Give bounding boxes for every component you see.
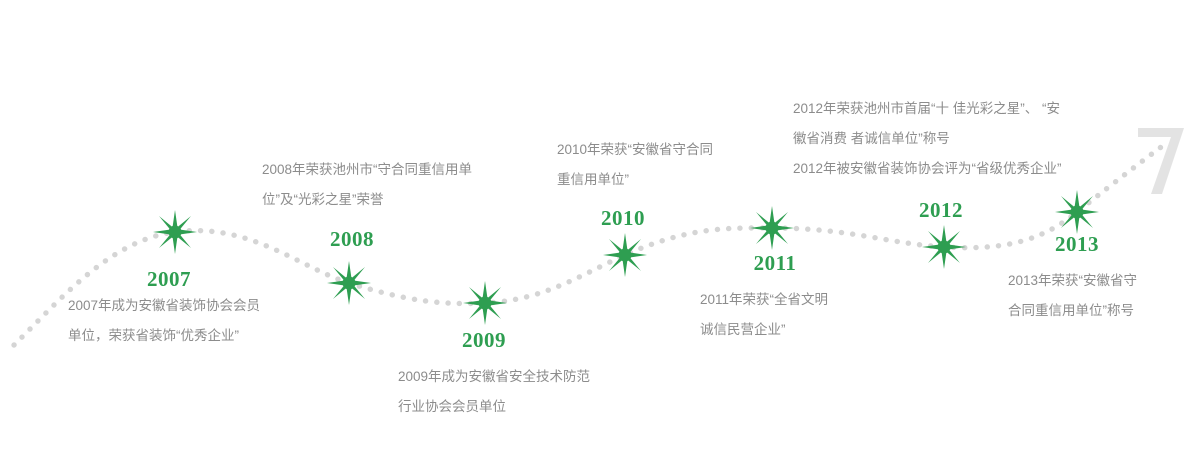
arrow-seven-watermark-icon [1132, 118, 1196, 200]
description-line: 2008年荣获池州市“守合同重信用单 [262, 155, 472, 185]
description-2010: 2010年荣获“安徽省守合同重信用单位” [557, 135, 713, 195]
description-2011: 2011年荣获“全省文明诚信民营企业” [700, 285, 828, 345]
description-line: 2010年荣获“安徽省守合同 [557, 135, 713, 165]
star-marker-2012[interactable] [922, 225, 966, 269]
description-line: 2012年被安徽省装饰协会评为“省级优秀企业” [793, 154, 1062, 184]
description-line: 重信用单位” [557, 165, 713, 195]
star-marker-2009[interactable] [463, 281, 507, 325]
description-2009: 2009年成为安徽省安全技术防范行业协会会员单位 [398, 362, 590, 422]
description-line: 徽省消费 者诚信单位”称号 [793, 124, 1062, 154]
year-label-2012: 2012 [919, 198, 963, 223]
timeline-infographic: 20072007年成为安徽省装饰协会会员单位，荣获省装饰“优秀企业”200820… [0, 0, 1200, 465]
description-line: 诚信民营企业” [700, 315, 828, 345]
description-2012: 2012年荣获池州市首届“十 佳光彩之星”、 “安徽省消费 者诚信单位”称号20… [793, 94, 1062, 184]
description-line: 2013年荣获“安徽省守 [1008, 266, 1137, 296]
description-line: 单位，荣获省装饰“优秀企业” [68, 321, 260, 351]
star-marker-2011[interactable] [750, 206, 794, 250]
star-marker-2007[interactable] [153, 210, 197, 254]
year-label-2011: 2011 [754, 251, 797, 276]
description-line: 2007年成为安徽省装饰协会会员 [68, 291, 260, 321]
description-line: 位”及“光彩之星”荣誉 [262, 185, 472, 215]
description-line: 行业协会会员单位 [398, 392, 590, 422]
description-line: 2009年成为安徽省安全技术防范 [398, 362, 590, 392]
year-label-2007: 2007 [147, 267, 191, 292]
year-label-2010: 2010 [601, 206, 645, 231]
description-line: 2012年荣获池州市首届“十 佳光彩之星”、 “安 [793, 94, 1062, 124]
star-marker-2013[interactable] [1055, 190, 1099, 234]
year-label-2008: 2008 [330, 227, 374, 252]
year-label-2009: 2009 [462, 328, 506, 353]
description-2013: 2013年荣获“安徽省守合同重信用单位”称号 [1008, 266, 1137, 326]
description-line: 2011年荣获“全省文明 [700, 285, 828, 315]
star-marker-2008[interactable] [327, 261, 371, 305]
description-2007: 2007年成为安徽省装饰协会会员单位，荣获省装饰“优秀企业” [68, 291, 260, 351]
description-2008: 2008年荣获池州市“守合同重信用单位”及“光彩之星”荣誉 [262, 155, 472, 215]
year-label-2013: 2013 [1055, 232, 1099, 257]
star-marker-2010[interactable] [603, 233, 647, 277]
description-line: 合同重信用单位”称号 [1008, 296, 1137, 326]
